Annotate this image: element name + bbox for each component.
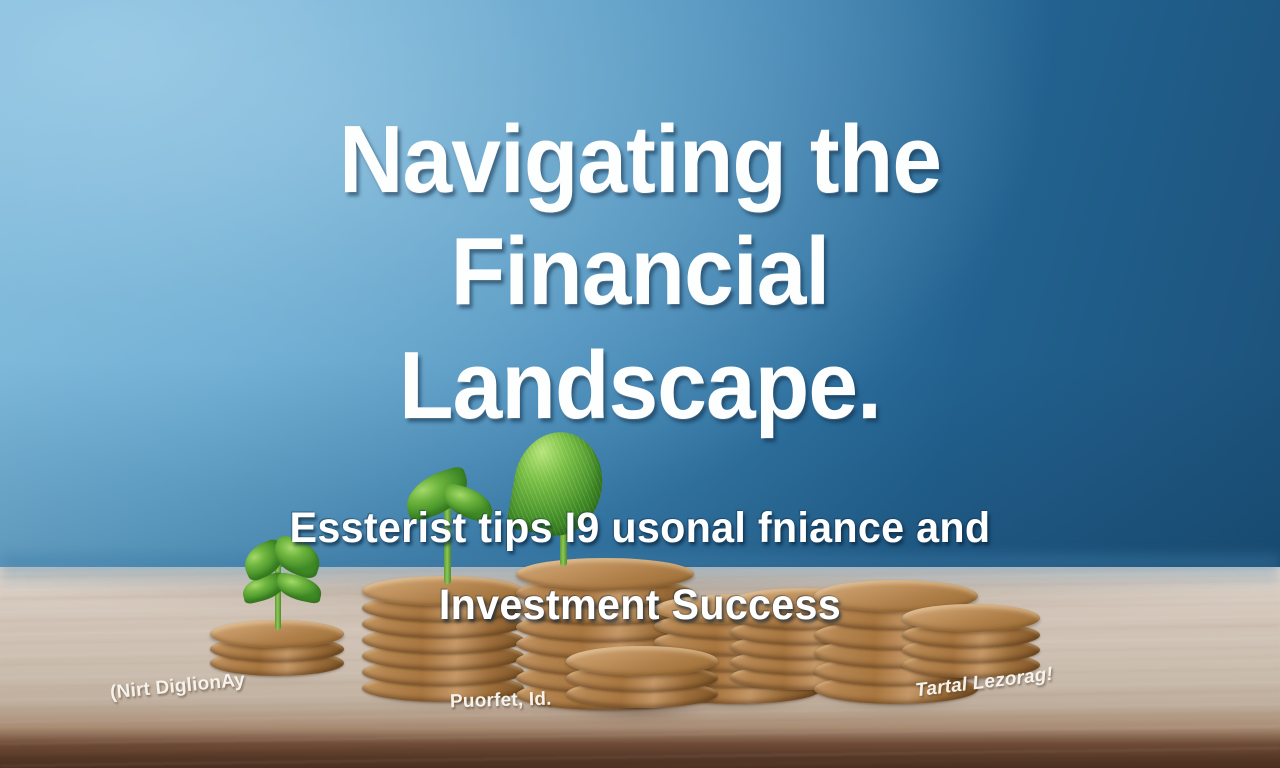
headline-line-1: Navigating the xyxy=(45,104,1235,216)
subtitle-line-2: Investment Success xyxy=(26,580,1255,630)
subtitle-line-1: Essterist tips I9 usonal fniance and xyxy=(26,503,1255,553)
headline-line-2: Financial xyxy=(45,216,1235,328)
headline-line-3: Landscape. xyxy=(45,330,1235,442)
banner-image: Navigating the Financial Landscape. Esst… xyxy=(0,0,1280,768)
coin xyxy=(566,646,718,676)
caption-middle: Puorfet, Id. xyxy=(450,689,552,714)
